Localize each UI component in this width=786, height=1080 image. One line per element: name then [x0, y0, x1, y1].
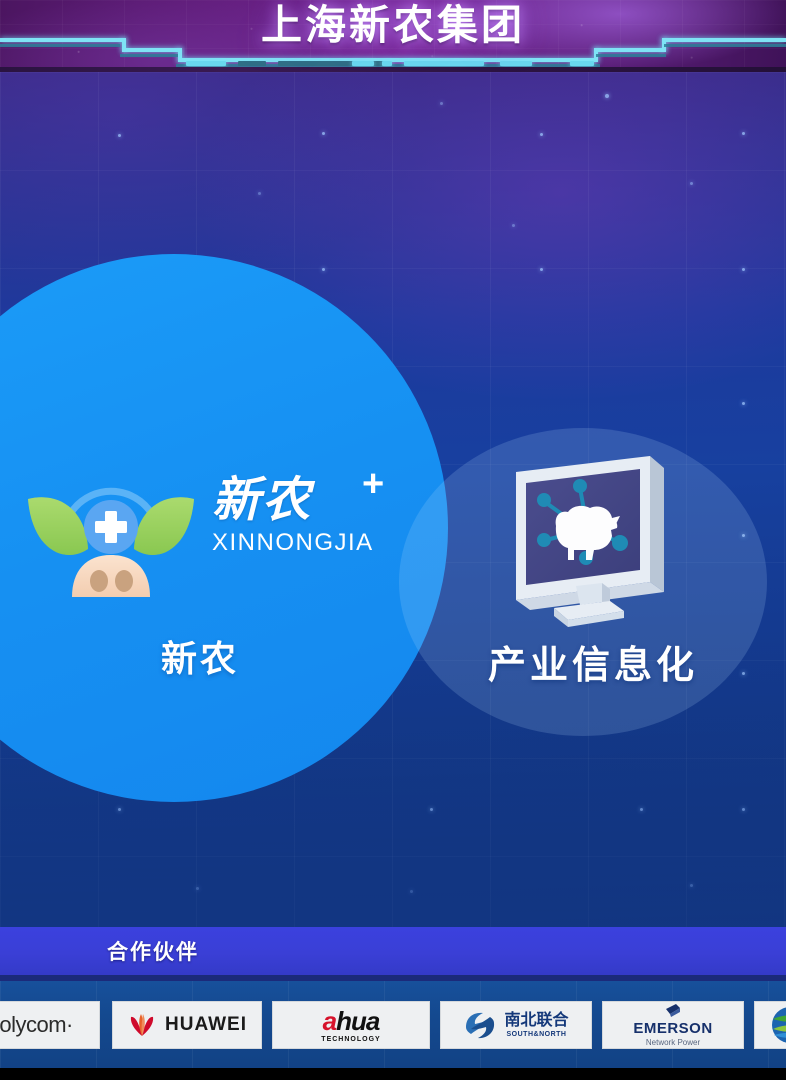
partners-title-bar: 合作伙伴 [0, 927, 786, 975]
header-dash-6 [404, 61, 484, 66]
partner-logo-huawei-label: HUAWEI [165, 1014, 247, 1036]
header-dash-2 [238, 61, 266, 66]
monitor-pig-network-icon [498, 450, 684, 636]
page-header: 上海新农集团 [0, 0, 786, 72]
brand-plus-icon: + [362, 465, 384, 503]
partner-logo-dahua-a: a [323, 1006, 336, 1036]
partner-logo-emerson-label: EMERSON [633, 1021, 712, 1036]
partners-section-title: 合作伙伴 [0, 936, 546, 966]
header-line-shadow-right-2 [596, 54, 666, 57]
partner-logo-polycom[interactable]: Polycom· [0, 1001, 100, 1049]
partner-logo-emerson-sub: Network Power [646, 1039, 700, 1047]
partner-logo-dahua-sub: TECHNOLOGY [321, 1036, 380, 1043]
pig-head-icon [16, 475, 206, 600]
header-dash-5 [382, 61, 392, 66]
header-dash-4 [352, 61, 374, 66]
partner-logo-south-north-en: SOUTH&NORTH [507, 1031, 567, 1038]
partner-logo-dahua[interactable]: ahua TECHNOLOGY [272, 1001, 430, 1049]
main-stage: 新农 + XINNONGJIA 新农 [0, 72, 786, 927]
partner-logo-dahua-hua: hua [336, 1006, 379, 1036]
emerson-flag-icon [664, 1003, 682, 1019]
page-title: 上海新农集团 [0, 0, 786, 51]
partner-logo-south-north[interactable]: 南北联合 SOUTH&NORTH [440, 1001, 592, 1049]
brand-name-cn: 新农 [212, 474, 312, 527]
header-line-shadow-left-2 [120, 54, 178, 57]
south-north-globe-icon [463, 1010, 497, 1040]
header-dash-1 [186, 61, 226, 66]
left-panel-label: 新农 [0, 630, 400, 682]
right-panel-label: 产业信息化 [420, 634, 766, 689]
blue-green-globe-icon [768, 1005, 786, 1045]
brand-name-en: XINNONGJIA [212, 529, 412, 557]
footer-black-bar [0, 1068, 786, 1080]
header-dash-7 [500, 61, 532, 66]
huawei-red-flower-icon [127, 1012, 157, 1038]
app-root: 上海新农集团 [0, 0, 786, 1080]
partner-logo-south-north-cn: 南北联合 [504, 1013, 568, 1029]
xinnong-brand-lockup: 新农 + XINNONGJIA [8, 467, 408, 602]
partner-logo-emerson[interactable]: EMERSON Network Power [602, 1001, 744, 1049]
header-dash-8 [570, 61, 594, 66]
partner-logo-polycom-label: Polycom [0, 1012, 66, 1038]
partner-logo-strip[interactable]: Polycom· HUAWEI ahua TECHNOLOGY [0, 981, 786, 1068]
partner-logo-huawei[interactable]: HUAWEI [112, 1001, 262, 1049]
xinnong-wordmark: 新农 + XINNONGJIA [212, 477, 412, 557]
partner-logo-partner-6[interactable] [754, 1001, 786, 1049]
